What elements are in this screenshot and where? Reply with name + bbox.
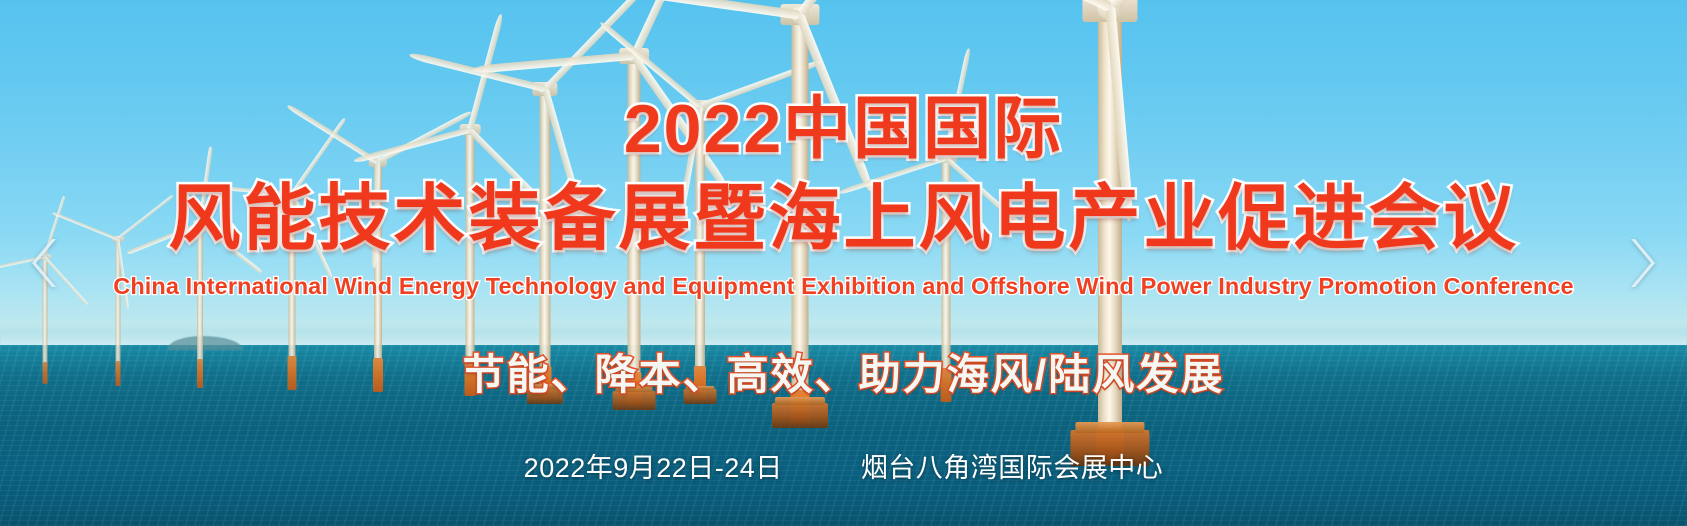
banner-content: 2022中国国际 风能技术装备展暨海上风电产业促进会议 China Intern…: [0, 0, 1687, 526]
title-line-2: 风能技术装备展暨海上风电产业促进会议: [0, 183, 1687, 255]
chevron-left-icon: [32, 237, 58, 289]
subtitle-english: China International Wind Energy Technolo…: [0, 275, 1687, 299]
tagline: 节能、降本、高效、助力海风/陆风发展: [0, 354, 1687, 396]
promo-banner: 2022中国国际 风能技术装备展暨海上风电产业促进会议 China Intern…: [0, 0, 1687, 526]
chevron-right-icon: [1629, 237, 1655, 289]
carousel-next-button[interactable]: [1627, 236, 1657, 290]
carousel-prev-button[interactable]: [30, 236, 60, 290]
event-date: 2022年9月22日-24日: [524, 446, 783, 485]
event-venue: 烟台八角湾国际会展中心: [861, 446, 1164, 485]
title-line-1: 2022中国国际: [0, 95, 1687, 163]
event-info: 2022年9月22日-24日 烟台八角湾国际会展中心: [0, 446, 1687, 485]
